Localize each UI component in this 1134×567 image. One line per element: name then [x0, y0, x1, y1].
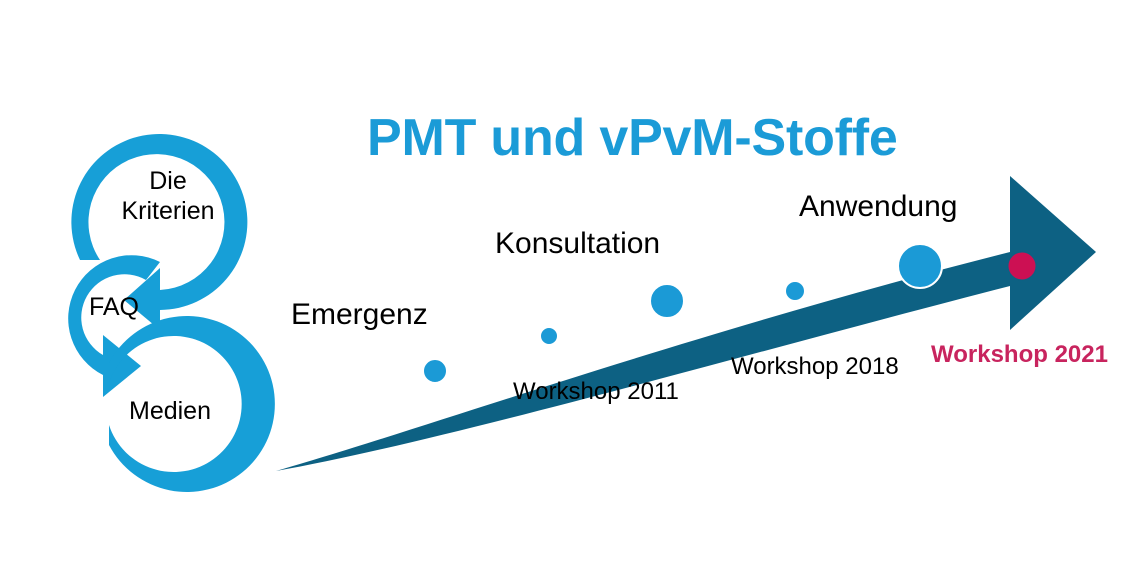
cycle-label-die-kriterien-line1: Die: [149, 167, 187, 195]
marker-6[interactable]: [1008, 252, 1036, 280]
cycle-label-faq: FAQ: [56, 293, 172, 322]
stage-label-anwendung: Anwendung: [799, 192, 957, 222]
diagram-canvas: PMT und vPvM-Stoffe Die Kriterien FAQ Me…: [0, 0, 1134, 567]
cycle-label-medien: Medien: [102, 397, 238, 426]
workshop-label-2018: Workshop 2018: [731, 355, 899, 379]
marker-5[interactable]: [898, 244, 942, 288]
marker-1[interactable]: [423, 359, 447, 383]
workshop-label-2021: Workshop 2021: [931, 343, 1108, 367]
diagram-graphics: [0, 0, 1134, 567]
page-title: PMT und vPvM-Stoffe: [367, 112, 898, 164]
workshop-label-2011: Workshop 2011: [513, 380, 679, 404]
cycle-label-die-kriterien-line2: Kriterien: [121, 197, 214, 225]
stage-label-konsultation: Konsultation: [495, 229, 660, 259]
marker-3[interactable]: [650, 284, 684, 318]
marker-2[interactable]: [540, 327, 558, 345]
marker-4[interactable]: [785, 281, 805, 301]
cycle-label-die-kriterien: Die Kriterien: [104, 166, 232, 226]
stage-label-emergenz: Emergenz: [291, 300, 428, 330]
